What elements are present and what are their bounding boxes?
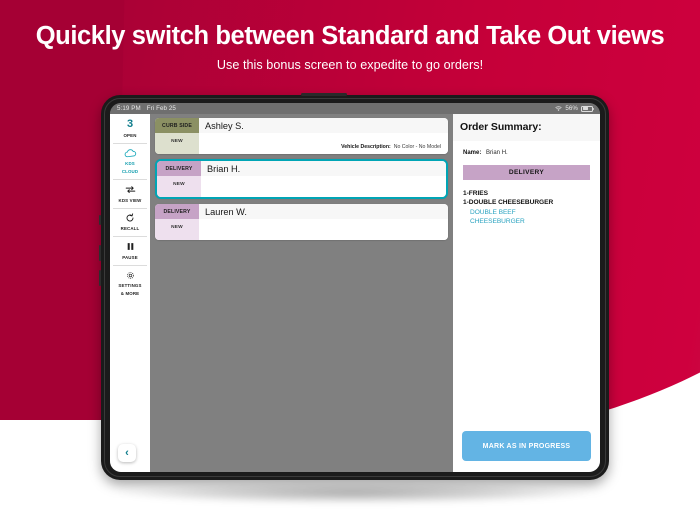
order-card[interactable]: DELIVERY NEW Brian H.: [155, 159, 448, 199]
sidebar-item-open[interactable]: 3 OPEN: [113, 114, 147, 144]
order-state-badge: NEW: [155, 219, 199, 240]
order-card[interactable]: CURB SIDE NEW Ashley S. Vehicle Descript…: [155, 118, 448, 154]
wifi-icon: [555, 106, 562, 112]
tablet-volume-up-button: [99, 245, 101, 261]
sidebar-item-label: PAUSE: [113, 255, 147, 261]
tablet-speaker-grille: [301, 93, 347, 96]
sidebar-item-label: OPEN: [113, 133, 147, 139]
sidebar-item-label: RECALL: [113, 226, 147, 232]
order-list: CURB SIDE NEW Ashley S. Vehicle Descript…: [150, 114, 453, 472]
sidebar-item-kds-view[interactable]: KDS VIEW: [113, 180, 147, 209]
order-body: Brian H.: [201, 161, 446, 197]
summary-actions: MARK AS IN PROGRESS: [453, 431, 600, 472]
sidebar-item-label-2: CLOUD: [113, 169, 147, 175]
status-battery-percent: 56%: [565, 105, 578, 112]
swap-arrows-icon: [113, 184, 147, 195]
summary-type-banner: DELIVERY: [463, 165, 590, 180]
sidebar-item-label: KDS VIEW: [113, 198, 147, 204]
tablet-shadow: [118, 482, 588, 504]
vehicle-description-value: No Color - No Model: [394, 144, 441, 150]
status-time: 5:19 PM: [117, 105, 141, 112]
back-button[interactable]: ‹: [118, 444, 136, 462]
sidebar-item-kds-cloud[interactable]: KDS CLOUD: [113, 144, 147, 181]
sidebar-item-label: SETTINGS: [113, 283, 147, 289]
order-tag-column: CURB SIDE NEW: [155, 118, 199, 154]
cloud-icon: [113, 148, 147, 159]
promo-text-block: Quickly switch between Standard and Take…: [0, 22, 700, 72]
pause-icon: [113, 241, 147, 252]
order-detail-row: [199, 219, 448, 240]
tablet-screen: 5:19 PM Fri Feb 25 56%: [110, 103, 600, 472]
summary-name-value: Brian H.: [486, 150, 508, 156]
summary-item-line: 1-DOUBLE CHEESEBURGER: [463, 198, 590, 207]
status-date: Fri Feb 25: [147, 105, 176, 112]
summary-modifier-line: CHEESEBURGER: [463, 217, 590, 226]
order-detail-row: Vehicle Description: No Color - No Model: [199, 133, 448, 154]
page-subtitle: Use this bonus screen to expedite to go …: [0, 58, 700, 72]
open-order-count: 3: [113, 119, 147, 130]
vehicle-description-label: Vehicle Description:: [341, 144, 391, 150]
order-summary-body: Name: Brian H. DELIVERY 1-FRIES 1-DOUBLE…: [453, 141, 600, 226]
summary-name-label: Name:: [463, 150, 481, 156]
mark-as-in-progress-button[interactable]: MARK AS IN PROGRESS: [462, 431, 591, 461]
order-type-badge: DELIVERY: [157, 161, 201, 176]
summary-modifier-line: DOUBLE BEEF: [463, 208, 590, 217]
tablet-volume-down-button: [99, 270, 101, 286]
order-detail-row: [201, 176, 446, 197]
order-card[interactable]: DELIVERY NEW Lauren W.: [155, 204, 448, 240]
tablet-button-1: [99, 215, 101, 225]
order-state-badge: NEW: [155, 133, 199, 154]
gear-icon: [113, 270, 147, 281]
order-state-badge: NEW: [157, 176, 201, 197]
sidebar-item-label: KDS: [113, 161, 147, 167]
order-tag-column: DELIVERY NEW: [155, 204, 199, 240]
sidebar-item-label-2: & MORE: [113, 291, 147, 297]
ios-status-bar: 5:19 PM Fri Feb 25 56%: [110, 103, 600, 114]
order-body: Ashley S. Vehicle Description: No Color …: [199, 118, 448, 154]
order-summary-title: Order Summary:: [453, 114, 600, 141]
summary-name-row: Name: Brian H.: [463, 150, 590, 156]
order-body: Lauren W.: [199, 204, 448, 240]
kds-app: 3 OPEN KDS CLOUD: [110, 114, 600, 472]
tablet-device-frame: 5:19 PM Fri Feb 25 56%: [101, 95, 609, 480]
sidebar-item-pause[interactable]: PAUSE: [113, 237, 147, 266]
order-tag-column: DELIVERY NEW: [157, 161, 201, 197]
sidebar-item-recall[interactable]: RECALL: [113, 209, 147, 238]
recall-arrow-icon: [113, 213, 147, 224]
promo-graphic: Quickly switch between Standard and Take…: [0, 0, 700, 525]
order-type-badge: DELIVERY: [155, 204, 199, 219]
order-summary-panel: Order Summary: Name: Brian H. DELIVERY 1…: [453, 114, 600, 472]
kds-sidebar: 3 OPEN KDS CLOUD: [110, 114, 150, 472]
summary-item-line: 1-FRIES: [463, 189, 590, 198]
order-customer-name: Brian H.: [201, 161, 446, 176]
page-title: Quickly switch between Standard and Take…: [0, 22, 700, 50]
battery-icon: [581, 106, 593, 112]
order-customer-name: Lauren W.: [199, 204, 448, 219]
sidebar-item-settings[interactable]: SETTINGS & MORE: [113, 266, 147, 302]
order-customer-name: Ashley S.: [199, 118, 448, 133]
order-type-badge: CURB SIDE: [155, 118, 199, 133]
